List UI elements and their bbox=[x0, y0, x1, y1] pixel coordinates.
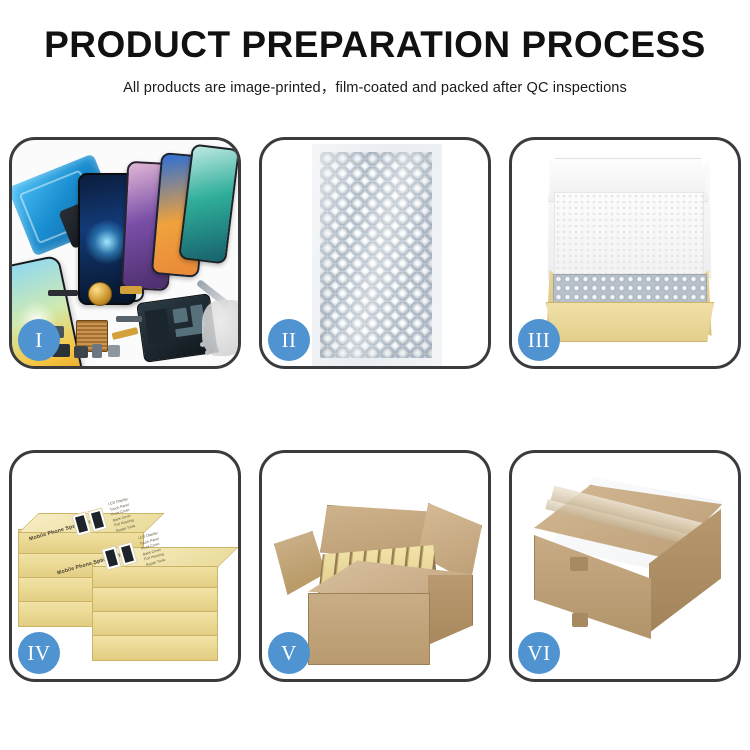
step-panel-4: Mobile Phone Spare Parts LCD Display Tou… bbox=[9, 450, 241, 682]
steps-grid: I II III bbox=[9, 137, 741, 682]
earpiece-icon bbox=[48, 290, 78, 296]
flex-cable-icon bbox=[112, 327, 139, 340]
step-panel-2: II bbox=[259, 137, 491, 369]
carton-front bbox=[308, 593, 430, 665]
retail-box bbox=[92, 611, 218, 637]
header: PRODUCT PREPARATION PROCESS All products… bbox=[0, 0, 750, 97]
bubble-wrap-icon bbox=[553, 274, 707, 306]
vibrator-part-icon bbox=[74, 346, 88, 358]
step-panel-3: III bbox=[509, 137, 741, 369]
carton-side bbox=[428, 575, 473, 645]
button-part-icon bbox=[108, 345, 120, 357]
carton-handle-cut bbox=[570, 557, 588, 571]
page-subtitle: All products are image-printed，film-coat… bbox=[0, 76, 750, 97]
product-preparation-infographic: PRODUCT PREPARATION PROCESS All products… bbox=[0, 0, 750, 750]
step-badge-3: III bbox=[518, 319, 560, 361]
step-panel-1: I bbox=[9, 137, 241, 369]
step-panel-5: V bbox=[259, 450, 491, 682]
step-badge-5: V bbox=[268, 632, 310, 674]
flex-cable-icon bbox=[120, 286, 142, 294]
speaker-module-icon bbox=[88, 282, 112, 306]
antenna-strip-icon bbox=[116, 316, 142, 322]
page-title: PRODUCT PREPARATION PROCESS bbox=[0, 26, 750, 65]
step-badge-6: VI bbox=[518, 632, 560, 674]
screws-icon bbox=[200, 340, 222, 358]
box-lid-right-flap bbox=[702, 160, 719, 280]
kraft-box-front bbox=[546, 302, 714, 342]
retail-box bbox=[92, 587, 218, 613]
retail-box bbox=[92, 635, 218, 661]
sim-tray-icon bbox=[92, 344, 102, 358]
step-badge-2: II bbox=[268, 319, 310, 361]
step-panel-6: VI bbox=[509, 450, 741, 682]
step-badge-1: I bbox=[18, 319, 60, 361]
carton-handle-cut bbox=[572, 613, 588, 627]
plastic-sheen-overlay bbox=[320, 152, 432, 358]
step-badge-4: IV bbox=[18, 632, 60, 674]
foam-padding-icon bbox=[554, 192, 704, 280]
